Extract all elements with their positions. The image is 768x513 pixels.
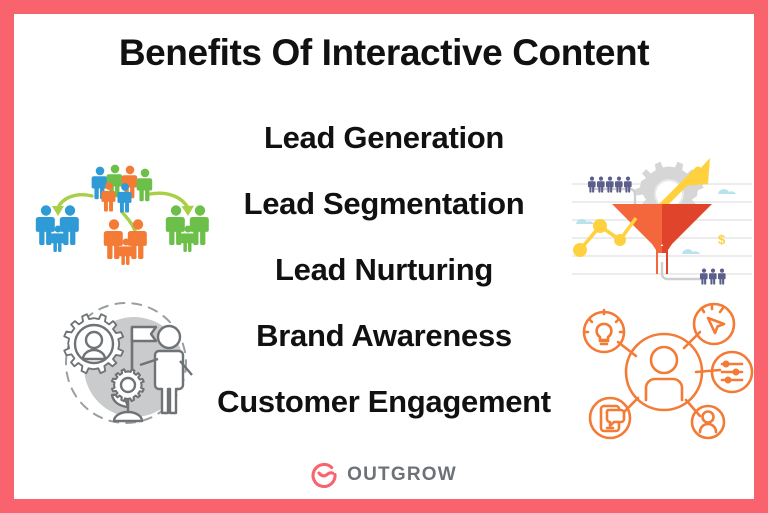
funnel-currency-symbol: $ (718, 232, 726, 247)
infographic-frame: Benefits Of Interactive Content Lead Gen… (0, 0, 768, 513)
page-title: Benefits Of Interactive Content (14, 32, 754, 74)
engagement-hub-icon (574, 300, 754, 440)
outgrow-logo-icon (311, 461, 338, 488)
customer-engagement-illustration (574, 300, 754, 445)
outgrow-wordmark: OUTGROW (347, 464, 457, 486)
lead-funnel-illustration: $ (570, 146, 754, 301)
audience-segmentation-icon (30, 156, 220, 281)
infographic-canvas: Benefits Of Interactive Content Lead Gen… (14, 14, 754, 499)
lead-funnel-icon: $ (570, 146, 754, 296)
brand-awareness-illustration (42, 297, 212, 437)
brand-awareness-icon (42, 297, 212, 432)
audience-segmentation-illustration (30, 156, 220, 286)
outgrow-logo: OUTGROW (14, 461, 754, 488)
